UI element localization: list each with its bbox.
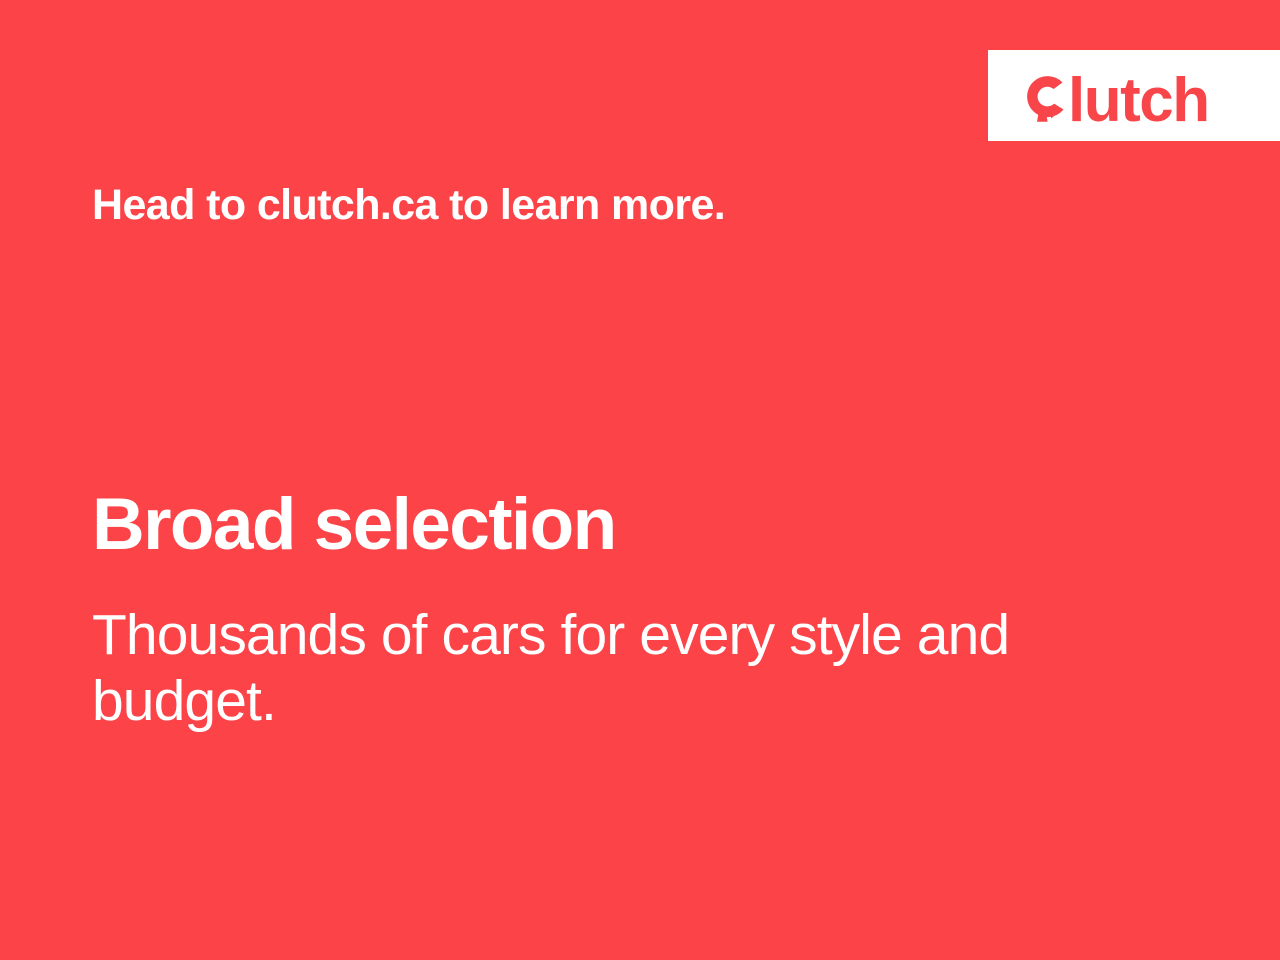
promo-slide: lutch Head to clutch.ca to learn more. B… [0, 0, 1280, 960]
clutch-logo-plate: lutch [988, 50, 1280, 141]
clutch-wordmark: lutch [1068, 76, 1209, 127]
clutch-plate-c-icon [1020, 73, 1066, 125]
page-title: Broad selection [92, 486, 616, 563]
eyebrow-text: Head to clutch.ca to learn more. [92, 181, 725, 229]
subtitle-text: Thousands of cars for every style and bu… [92, 602, 1032, 734]
clutch-logo-lockup: lutch [1020, 67, 1209, 125]
